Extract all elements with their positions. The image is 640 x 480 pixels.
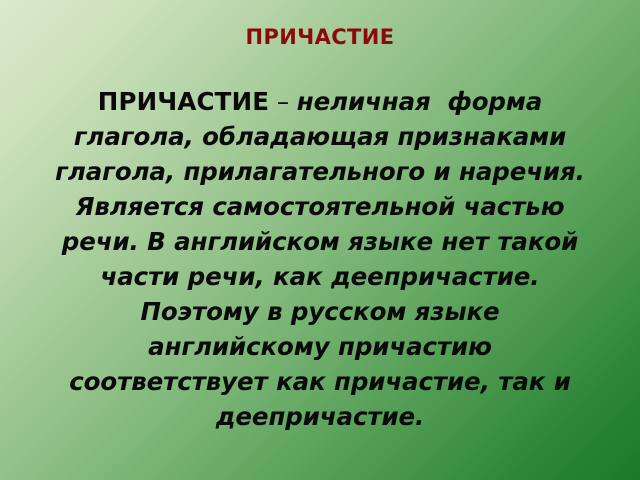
definition-line-4: Является самостоятельной частью xyxy=(16,189,624,224)
term-label: ПРИЧАСТИЕ xyxy=(98,87,269,116)
definition-line-8: английскому причастию xyxy=(16,329,624,364)
definition-line-10: деепричастие. xyxy=(16,399,624,434)
page-title: ПРИЧАСТИЕ xyxy=(0,26,640,49)
definition-line-1-text: неличная форма xyxy=(297,87,542,116)
definition-line-7: Поэтому в русском языке xyxy=(16,294,624,329)
definition-line-9: соответствует как причастие, так и xyxy=(16,364,624,399)
term-dash: – xyxy=(269,87,297,116)
definition-line-1: ПРИЧАСТИЕ – неличная форма xyxy=(16,84,624,119)
definition-text-block: ПРИЧАСТИЕ – неличная форма глагола, обла… xyxy=(16,84,624,434)
slide-canvas: ПРИЧАСТИЕ ПРИЧАСТИЕ – неличная форма гла… xyxy=(0,0,640,480)
definition-line-3: глагола, прилагательного и наречия. xyxy=(16,154,624,189)
definition-line-2: глагола, обладающая признаками xyxy=(16,119,624,154)
definition-line-5: речи. В английском языке нет такой xyxy=(16,224,624,259)
definition-line-6: части речи, как деепричастие. xyxy=(16,259,624,294)
